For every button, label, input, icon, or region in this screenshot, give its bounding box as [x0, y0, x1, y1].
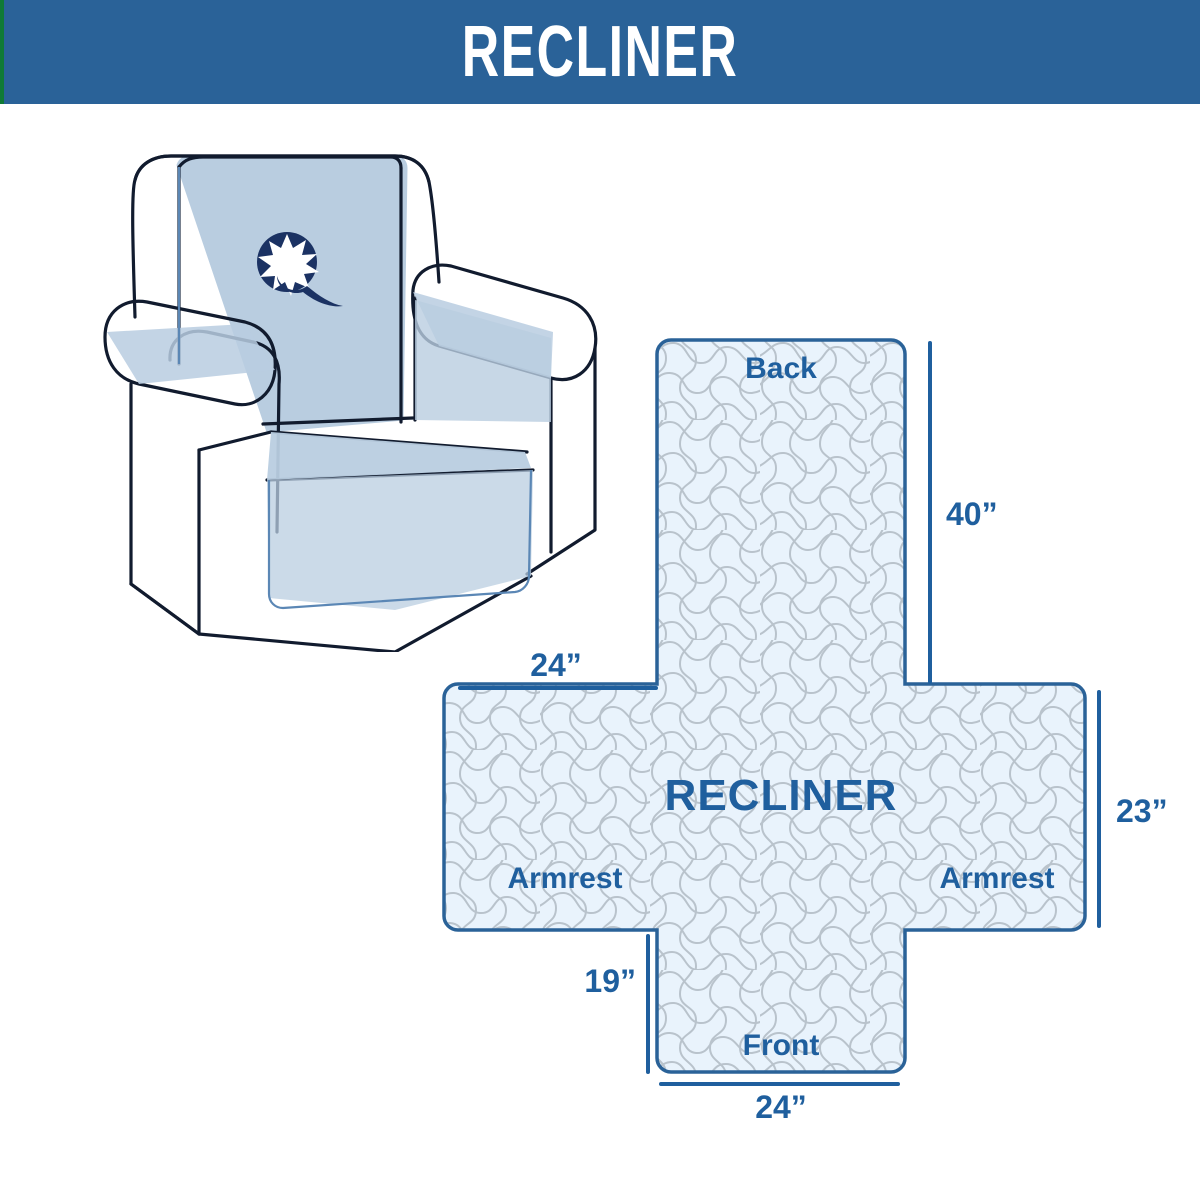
header-banner: RECLINER	[0, 0, 1200, 104]
panel-label-back: Back	[745, 352, 817, 385]
dimension-front-height: 19”	[584, 936, 648, 1072]
product-dimension-graphic: RECLINER	[0, 0, 1200, 1200]
panel-label-center: RECLINER	[665, 771, 898, 820]
cover-flat-lay-shape	[430, 310, 1200, 1140]
dimension-value-19: 19”	[584, 963, 636, 999]
page-title: RECLINER	[462, 16, 738, 88]
dimension-armrest-height: 23”	[1099, 692, 1168, 926]
dimension-value-40: 40”	[946, 496, 998, 532]
chair-back-cover	[177, 155, 407, 432]
dimension-armrest-width-top: 24”	[460, 647, 656, 688]
panel-label-armrest-left: Armrest	[507, 862, 622, 895]
dimension-front-width: 24”	[661, 1084, 898, 1125]
dimension-diagram: Back RECLINER Armrest Armrest Front 40” …	[430, 310, 1200, 1140]
dimension-value-23: 23”	[1116, 793, 1168, 829]
dimension-value-24-top: 24”	[530, 647, 582, 683]
panel-label-front: Front	[743, 1029, 820, 1062]
panel-label-armrest-right: Armrest	[939, 862, 1054, 895]
dimension-value-24-bottom: 24”	[755, 1089, 807, 1125]
dimension-back-height: 40”	[930, 343, 998, 682]
header-accent-stripe	[0, 0, 4, 104]
